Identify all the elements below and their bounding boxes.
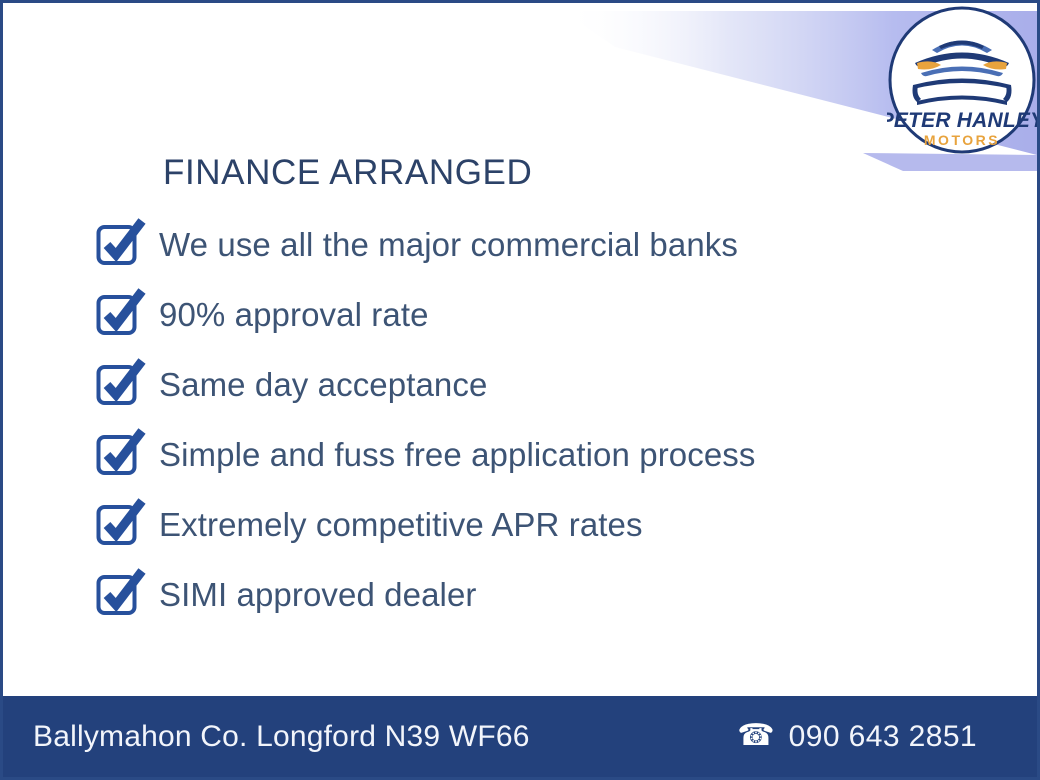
phone-number-text: 090 643 2851 bbox=[789, 720, 977, 754]
list-item: 90% approval rate bbox=[95, 279, 995, 349]
list-item: We use all the major commercial banks bbox=[95, 209, 995, 279]
list-item-label: 90% approval rate bbox=[159, 298, 429, 331]
list-item: Same day acceptance bbox=[95, 349, 995, 419]
page-title: FINANCE ARRANGED bbox=[163, 153, 532, 193]
checked-checkbox-icon bbox=[95, 288, 147, 338]
checked-checkbox-icon bbox=[95, 568, 147, 618]
list-item-label: We use all the major commercial banks bbox=[159, 228, 738, 261]
list-item-label: Extremely competitive APR rates bbox=[159, 508, 643, 541]
list-item: SIMI approved dealer bbox=[95, 559, 995, 629]
contact-footer-bar: Ballymahon Co. Longford N39 WF66 ☎ 090 6… bbox=[3, 696, 1037, 777]
checked-checkbox-icon bbox=[95, 358, 147, 408]
checked-checkbox-icon bbox=[95, 218, 147, 268]
list-item: Simple and fuss free application process bbox=[95, 419, 995, 489]
list-item-label: Same day acceptance bbox=[159, 368, 487, 401]
dealer-phone[interactable]: ☎ 090 643 2851 bbox=[737, 720, 1007, 754]
dealer-address: Ballymahon Co. Longford N39 WF66 bbox=[33, 720, 530, 754]
list-item-label: SIMI approved dealer bbox=[159, 578, 477, 611]
checked-checkbox-icon bbox=[95, 498, 147, 548]
logo-name-bottom: MOTORS bbox=[924, 132, 1000, 148]
diagonal-gradient-wedge bbox=[3, 3, 1037, 173]
checked-checkbox-icon bbox=[95, 428, 147, 478]
finance-arranged-poster: PETER HANLEY MOTORS FINANCE ARRANGED We … bbox=[0, 0, 1040, 780]
logo-name-top: PETER HANLEY bbox=[887, 109, 1037, 132]
list-item-label: Simple and fuss free application process bbox=[159, 438, 756, 471]
telephone-icon: ☎ bbox=[737, 721, 774, 751]
list-item: Extremely competitive APR rates bbox=[95, 489, 995, 559]
benefits-checklist: We use all the major commercial banks 90… bbox=[95, 209, 995, 629]
peter-hanley-motors-logo: PETER HANLEY MOTORS bbox=[887, 5, 1037, 155]
